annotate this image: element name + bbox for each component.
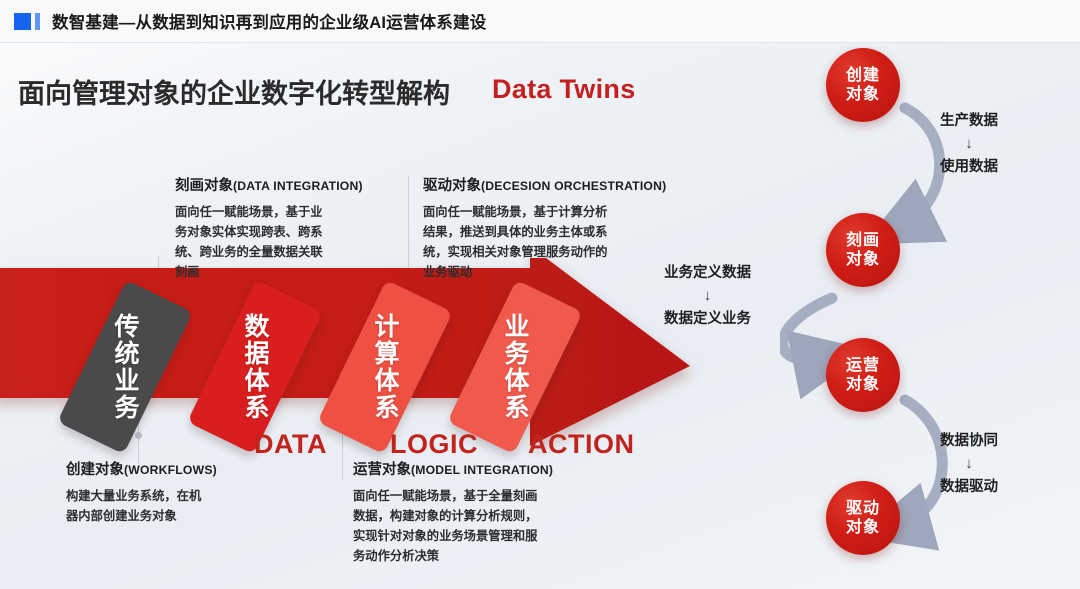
callout-line: 刻画	[175, 262, 363, 282]
flow-circle-operate[interactable]: 运营 对象	[826, 338, 900, 412]
flow-circle-line2: 对象	[846, 518, 880, 537]
callout-body: 面向任一赋能场景，基于全量刻画 数据，构建对象的计算分析规则， 实现针对对象的业…	[353, 486, 553, 566]
callout-heading-cn: 驱动对象	[423, 178, 481, 194]
flow-label-data-sync: 数据协同 ↓ 数据驱动	[940, 430, 998, 498]
flow-circle-drive[interactable]: 驱动 对象	[826, 481, 900, 555]
stage-word-data: DATA	[254, 429, 327, 460]
flow-circle-line2: 对象	[846, 250, 880, 269]
down-arrow-icon: ↓	[940, 452, 998, 476]
flow-arc-2	[783, 298, 832, 360]
slide-header: 数智基建—从数据到知识再到应用的企业级AI运营体系建设	[0, 0, 1080, 43]
flow-label-top: 数据协同	[940, 430, 998, 452]
ribbon-label-2: 计算体系	[367, 313, 403, 421]
flow-label-business-data: 业务定义数据 ↓ 数据定义业务	[664, 262, 751, 330]
callout-line: 务对象实体实现跨表、跨系	[175, 222, 363, 242]
callout-heading-en: (DATA INTEGRATION)	[233, 179, 363, 193]
callout-heading-en: (WORKFLOWS)	[124, 463, 217, 477]
blue-square-icon	[14, 13, 31, 30]
flow-arcs	[780, 40, 1080, 589]
callout-heading-en: (DECESION ORCHESTRATION)	[481, 179, 666, 193]
flow-circle-line2: 对象	[846, 375, 880, 394]
stage-word-action: ACTION	[528, 429, 635, 460]
callout-heading-cn: 创建对象	[66, 462, 124, 478]
callout-line: 面向任一赋能场景，基于计算分析	[423, 202, 666, 222]
ribbon-label-1: 数据体系	[237, 313, 273, 421]
callout-workflows: 创建对象(WORKFLOWS) 构建大量业务系统，在机 器内部创建业务对象	[66, 458, 217, 526]
ribbon-label-0: 传统业务	[107, 313, 143, 421]
header-title: 数智基建—从数据到知识再到应用的企业级AI运营体系建设	[52, 9, 486, 33]
stage-word-logic: LOGIC	[390, 429, 478, 460]
flow-arc-3	[896, 400, 942, 526]
callout-body: 构建大量业务系统，在机 器内部创建业务对象	[66, 486, 217, 526]
flow-circle-line2: 对象	[846, 85, 880, 104]
flow-label-bottom: 使用数据	[940, 156, 998, 178]
callout-line: 实现针对对象的业务场景管理和服	[353, 526, 553, 546]
callout-heading-en: (MODEL INTEGRATION)	[411, 463, 553, 477]
flow-circle-create[interactable]: 创建 对象	[826, 48, 900, 122]
ribbon-label-3: 业务体系	[497, 313, 533, 421]
flow-label-top: 业务定义数据	[664, 262, 751, 284]
flow-circle-line1: 刻画	[846, 231, 880, 250]
flow-label-top: 生产数据	[940, 110, 998, 132]
callout-decision-orchestration: 驱动对象(DECESION ORCHESTRATION) 面向任一赋能场景，基于…	[423, 174, 666, 282]
flow-label-bottom: 数据驱动	[940, 476, 998, 498]
callout-line: 数据，构建对象的计算分析规则，	[353, 506, 553, 526]
callout-model-integration: 运营对象(MODEL INTEGRATION) 面向任一赋能场景，基于全量刻画 …	[353, 458, 553, 566]
callout-heading: 刻画对象(DATA INTEGRATION)	[175, 174, 363, 195]
flow-circle-depict[interactable]: 刻画 对象	[826, 213, 900, 287]
callout-body: 面向任一赋能场景，基于业 务对象实体实现跨表、跨系 统、跨业务的全量数据关联 刻…	[175, 202, 363, 282]
page-title: 面向管理对象的企业数字化转型解构	[18, 72, 450, 111]
callout-line: 业务驱动	[423, 262, 666, 282]
callout-heading: 运营对象(MODEL INTEGRATION)	[353, 458, 553, 479]
callout-line: 结果，推送到具体的业务主体或系	[423, 222, 666, 242]
page-subtitle-en: Data Twins	[492, 74, 636, 105]
header-mark	[14, 13, 40, 30]
flow-circle-line1: 驱动	[846, 499, 880, 518]
callout-heading-cn: 运营对象	[353, 462, 411, 478]
callout-line: 器内部创建业务对象	[66, 506, 217, 526]
callout-line: 统、跨业务的全量数据关联	[175, 242, 363, 262]
flow-circle-line1: 创建	[846, 66, 880, 85]
slide-canvas: 数智基建—从数据到知识再到应用的企业级AI运营体系建设 面向管理对象的企业数字化…	[0, 0, 1080, 589]
callout-line: 统，实现相关对象管理服务动作的	[423, 242, 666, 262]
callout-line: 务动作分析决策	[353, 546, 553, 566]
down-arrow-icon: ↓	[664, 284, 751, 308]
down-arrow-icon: ↓	[940, 132, 998, 156]
flow-circle-line1: 运营	[846, 356, 880, 375]
flow-arc-1	[900, 108, 940, 226]
flow-label-produce-use: 生产数据 ↓ 使用数据	[940, 110, 998, 178]
callout-body: 面向任一赋能场景，基于计算分析 结果，推送到具体的业务主体或系 统，实现相关对象…	[423, 202, 666, 282]
blue-bar-icon	[35, 13, 40, 30]
callout-heading-cn: 刻画对象	[175, 178, 233, 194]
callout-line: 面向任一赋能场景，基于业	[175, 202, 363, 222]
callout-data-integration: 刻画对象(DATA INTEGRATION) 面向任一赋能场景，基于业 务对象实…	[175, 174, 363, 282]
flow-label-bottom: 数据定义业务	[664, 308, 751, 330]
callout-heading: 驱动对象(DECESION ORCHESTRATION)	[423, 174, 666, 195]
callout-line: 构建大量业务系统，在机	[66, 486, 217, 506]
callout-heading: 创建对象(WORKFLOWS)	[66, 458, 217, 479]
callout-line: 面向任一赋能场景，基于全量刻画	[353, 486, 553, 506]
